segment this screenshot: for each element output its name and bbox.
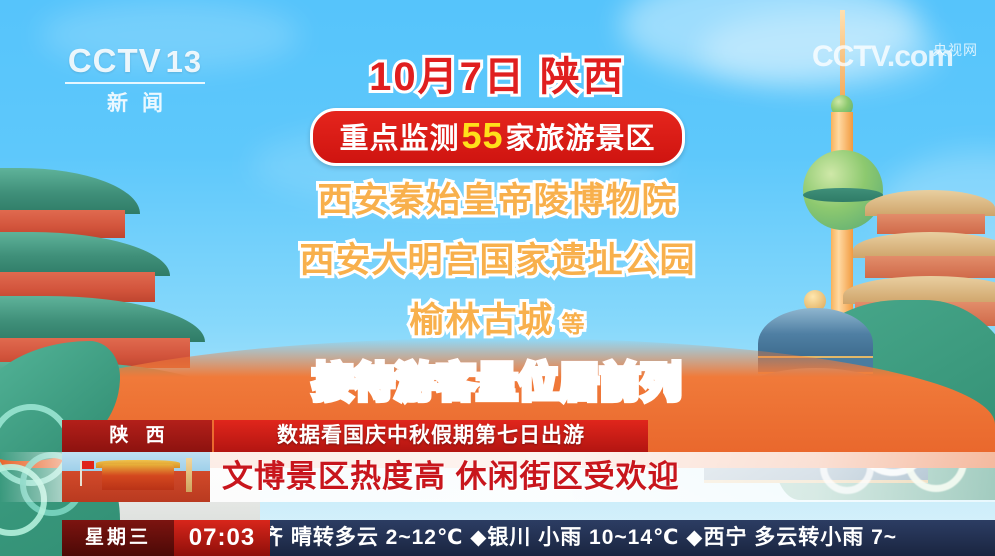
- title-date: 10月7日: [369, 55, 526, 99]
- lower-third: 陕 西 数据看国庆中秋假期第七日出游 文博景区热度高 休闲街区受欢迎: [0, 420, 995, 520]
- title-line: 10月7日陕西: [0, 52, 995, 102]
- badge-count: 55: [459, 115, 505, 156]
- conclusion-row: 接待游客量位居前列: [0, 349, 995, 409]
- tiananmen-thumbnail: [62, 452, 210, 502]
- scenic-spot-2: 西安大明宫国家遗址公园: [0, 236, 995, 286]
- title-province: 陕西: [540, 55, 626, 99]
- badge-prefix: 重点监测: [339, 123, 459, 155]
- badge-row: 重点监测55家旅游景区: [0, 108, 995, 166]
- ticker-weekday: 星期三: [62, 520, 174, 556]
- region-tag: 陕 西: [62, 420, 212, 452]
- monitoring-badge: 重点监测55家旅游景区: [310, 108, 684, 166]
- main-graphic: 10月7日陕西 重点监测55家旅游景区 西安秦始皇帝陵博物院 西安大明宫国家遗址…: [0, 52, 995, 409]
- gate-body: [102, 464, 174, 490]
- weather-ticker-text: 齐 晴转多云 2~12℃ ◆银川 小雨 10~14℃ ◆西宁 多云转小雨 7~: [270, 520, 897, 556]
- bottom-ticker: 星期三 07:03 齐 晴转多云 2~12℃ ◆银川 小雨 10~14℃ ◆西宁…: [0, 520, 995, 556]
- scenic-spot-1: 西安秦始皇帝陵博物院: [0, 176, 995, 226]
- scenic-spot-3: 榆林古城: [409, 301, 553, 340]
- topic-bar: 数据看国庆中秋假期第七日出游: [214, 420, 648, 452]
- ticker-clock: 07:03: [174, 520, 270, 556]
- title-date-province: 10月7日陕西: [369, 52, 626, 102]
- flag-icon: [82, 461, 94, 469]
- conclusion-text: 接待游客量位居前列: [313, 357, 682, 409]
- huabiao-column: [186, 458, 192, 492]
- etc-label: 等: [562, 311, 586, 337]
- scenic-spot-3-row: 榆林古城等: [0, 296, 995, 349]
- broadcast-screen: CCTV13 新闻 CCTV.com 央视网 10月7日陕西 重点监测55家旅游…: [0, 0, 995, 556]
- badge-suffix: 家旅游景区: [506, 123, 656, 155]
- headline-text: 文博景区热度高 休闲街区受欢迎: [222, 456, 680, 498]
- weather-ticker-feed: 齐 晴转多云 2~12℃ ◆银川 小雨 10~14℃ ◆西宁 多云转小雨 7~: [270, 520, 995, 556]
